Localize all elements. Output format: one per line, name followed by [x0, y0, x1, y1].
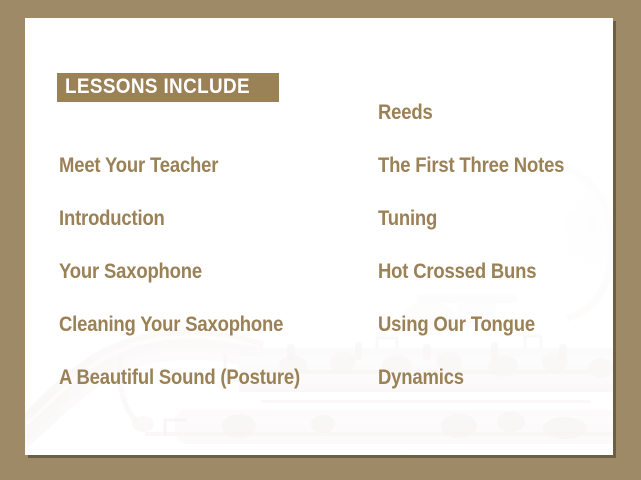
lesson-item-the-first-three-notes[interactable]: The First Three Notes [378, 154, 564, 178]
lesson-column-right: Reeds The First Three Notes Tuning Hot C… [348, 18, 613, 455]
lesson-item-using-our-tongue[interactable]: Using Our Tongue [378, 313, 535, 337]
lesson-item-dynamics[interactable]: Dynamics [378, 366, 464, 390]
lesson-item-cleaning-your-saxophone[interactable]: Cleaning Your Saxophone [59, 313, 283, 337]
lesson-item-hot-crossed-buns[interactable]: Hot Crossed Buns [378, 260, 536, 284]
lesson-item-tuning[interactable]: Tuning [378, 207, 437, 231]
lesson-item-a-beautiful-sound-posture[interactable]: A Beautiful Sound (Posture) [59, 366, 300, 390]
lesson-item-meet-your-teacher[interactable]: Meet Your Teacher [59, 154, 218, 178]
lesson-column-left: LESSONS INCLUDE Meet Your Teacher Introd… [25, 18, 348, 455]
slide-frame: LESSONS INCLUDE Meet Your Teacher Introd… [0, 0, 641, 480]
slide-content-card: LESSONS INCLUDE Meet Your Teacher Introd… [25, 18, 613, 455]
lessons-include-heading: LESSONS INCLUDE [57, 73, 279, 102]
lesson-item-reeds[interactable]: Reeds [378, 101, 433, 125]
lesson-item-your-saxophone[interactable]: Your Saxophone [59, 260, 202, 284]
lesson-item-introduction[interactable]: Introduction [59, 207, 165, 231]
lesson-list: LESSONS INCLUDE Meet Your Teacher Introd… [25, 18, 613, 455]
